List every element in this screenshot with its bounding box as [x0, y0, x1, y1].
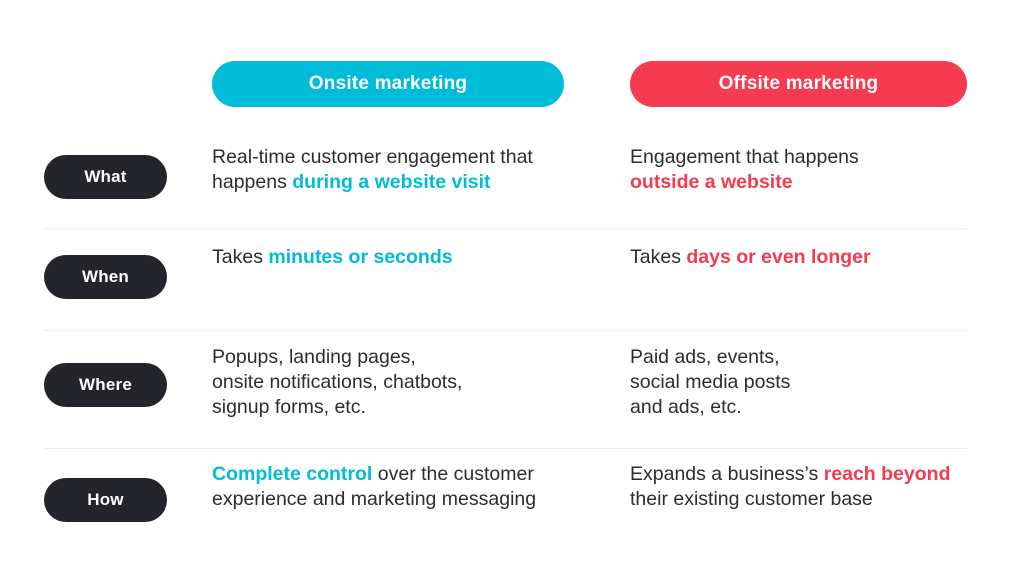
cell-line: Real-time customer engagement that	[212, 145, 612, 170]
cell-text-plain: experience and marketing messaging	[212, 488, 536, 510]
cell-onsite-what: Real-time customer engagement that happe…	[212, 145, 612, 195]
column-header-row: Onsite marketing Offsite marketing	[0, 61, 1024, 107]
cell-line: outside a website	[630, 170, 990, 195]
table-row: How Complete control over the customer e…	[0, 462, 1024, 557]
table-row: When Takes minutes or seconds Takes days…	[0, 245, 1024, 340]
row-divider	[44, 330, 967, 331]
cell-line: experience and marketing messaging	[212, 487, 612, 512]
cell-onsite-where: Popups, landing pages, onsite notificati…	[212, 345, 612, 420]
cell-line: happens during a website visit	[212, 170, 612, 195]
cell-line: Takes days or even longer	[630, 245, 990, 270]
cell-text-plain: happens	[212, 171, 292, 193]
cell-text-plain: Engagement that happens	[630, 146, 859, 168]
row-divider	[44, 448, 967, 449]
cell-text-highlight: minutes or seconds	[268, 246, 452, 268]
cell-line: signup forms, etc.	[212, 395, 612, 420]
cell-line: Popups, landing pages,	[212, 345, 612, 370]
cell-line: onsite notifications, chatbots,	[212, 370, 612, 395]
row-divider	[44, 228, 967, 229]
table-row: Where Popups, landing pages, onsite noti…	[0, 345, 1024, 455]
cell-text-highlight: days or even longer	[686, 246, 870, 268]
cell-onsite-how: Complete control over the customer exper…	[212, 462, 612, 512]
row-label-what: What	[44, 155, 167, 199]
cell-text-plain: Expands a business’s	[630, 463, 824, 485]
row-label-how: How	[44, 478, 167, 522]
cell-line: their existing customer base	[630, 487, 990, 512]
cell-line: Paid ads, events,	[630, 345, 990, 370]
cell-line: Takes minutes or seconds	[212, 245, 612, 270]
cell-text-plain: Takes	[212, 246, 268, 268]
column-header-onsite: Onsite marketing	[212, 61, 564, 107]
table-row: What Real-time customer engagement that …	[0, 145, 1024, 240]
cell-line: Expands a business’s reach beyond	[630, 462, 990, 487]
row-label-where: Where	[44, 363, 167, 407]
comparison-table: Onsite marketing Offsite marketing What …	[0, 0, 1024, 576]
cell-text-highlight: outside a website	[630, 171, 793, 193]
column-header-offsite: Offsite marketing	[630, 61, 967, 107]
row-label-when: When	[44, 255, 167, 299]
column-header-onsite-label: Onsite marketing	[309, 73, 467, 95]
cell-offsite-where: Paid ads, events, social media posts and…	[630, 345, 990, 420]
row-label-text: What	[84, 167, 126, 187]
cell-text-plain: Takes	[630, 246, 686, 268]
cell-line: and ads, etc.	[630, 395, 990, 420]
cell-line: Complete control over the customer	[212, 462, 612, 487]
row-label-text: How	[87, 490, 123, 510]
cell-text-plain: Real-time customer engagement that	[212, 146, 533, 168]
cell-line: social media posts	[630, 370, 990, 395]
cell-text-highlight: reach beyond	[824, 463, 951, 485]
cell-offsite-how: Expands a business’s reach beyond their …	[630, 462, 990, 512]
row-label-text: When	[82, 267, 129, 287]
cell-offsite-what: Engagement that happens outside a websit…	[630, 145, 990, 195]
cell-text-plain: their existing customer base	[630, 488, 873, 510]
cell-text-highlight: during a website visit	[292, 171, 490, 193]
cell-offsite-when: Takes days or even longer	[630, 245, 990, 270]
row-label-text: Where	[79, 375, 132, 395]
cell-text-plain: over the customer	[372, 463, 533, 485]
column-header-offsite-label: Offsite marketing	[719, 73, 879, 95]
cell-text-highlight: Complete control	[212, 463, 372, 485]
cell-onsite-when: Takes minutes or seconds	[212, 245, 612, 270]
cell-line: Engagement that happens	[630, 145, 990, 170]
